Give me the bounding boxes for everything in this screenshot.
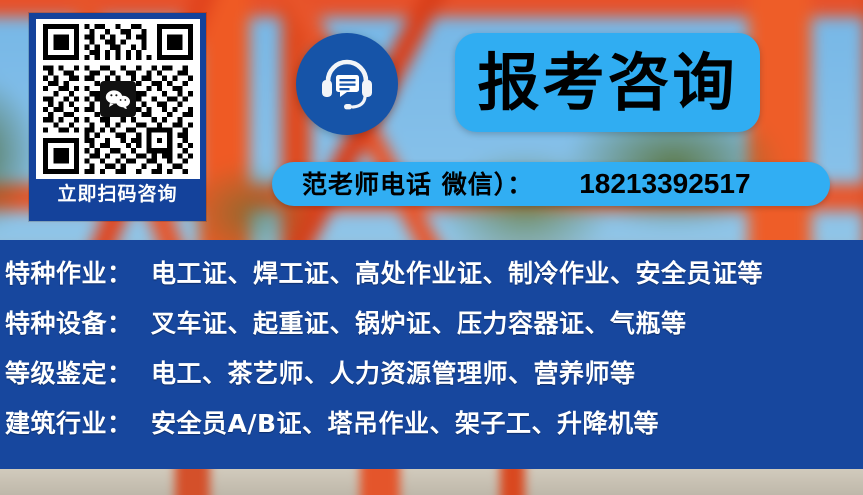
headset-support-icon[interactable] — [296, 33, 398, 135]
promo-poster: 立即扫码咨询 报考咨询 范老师电话 微信）： 18213392517 — [0, 0, 863, 495]
certificate-categories-panel: 特种作业： 电工证、焊工证、高处作业证、制冷作业、安全员证等 特种设备： 叉车证… — [0, 240, 863, 469]
phone-label: 范老师电话 微信）： — [302, 172, 533, 197]
category-row-grade-appraisal: 等级鉴定： 电工、茶艺师、人力资源管理师、营养师等 — [0, 354, 863, 404]
category-label: 建筑行业： — [5, 404, 151, 440]
title-text: 报考咨询 — [477, 52, 737, 114]
qr-code-card[interactable]: 立即扫码咨询 — [29, 13, 206, 221]
headset-glyph — [316, 53, 378, 115]
category-row-construction-industry: 建筑行业： 安全员A/B证、塔吊作业、架子工、升降机等 — [0, 404, 863, 454]
category-items: 电工证、焊工证、高处作业证、制冷作业、安全员证等 — [151, 254, 763, 290]
bottom-photo-strip — [0, 469, 863, 495]
category-label: 特种设备： — [5, 304, 151, 340]
category-row-special-operations: 特种作业： 电工证、焊工证、高处作业证、制冷作业、安全员证等 — [0, 254, 863, 304]
category-label: 特种作业： — [5, 254, 151, 290]
phone-number[interactable]: 18213392517 — [579, 170, 750, 198]
bottom-photo-strip-image — [0, 469, 863, 495]
category-items: 安全员A/B证、塔吊作业、架子工、升降机等 — [151, 404, 659, 440]
qr-code-caption: 立即扫码咨询 — [32, 185, 203, 204]
wechat-glyph — [105, 89, 131, 109]
qr-code-image[interactable] — [36, 19, 200, 179]
phone-contact-pill[interactable]: 范老师电话 微信）： 18213392517 — [272, 162, 830, 206]
category-row-special-equipment: 特种设备： 叉车证、起重证、锅炉证、压力容器证、气瓶等 — [0, 304, 863, 354]
category-items: 电工、茶艺师、人力资源管理师、营养师等 — [151, 354, 636, 390]
wechat-logo-icon — [100, 81, 136, 117]
category-label: 等级鉴定： — [5, 354, 151, 390]
title-pill-baokao-zixun[interactable]: 报考咨询 — [455, 33, 760, 132]
category-items: 叉车证、起重证、锅炉证、压力容器证、气瓶等 — [151, 304, 687, 340]
